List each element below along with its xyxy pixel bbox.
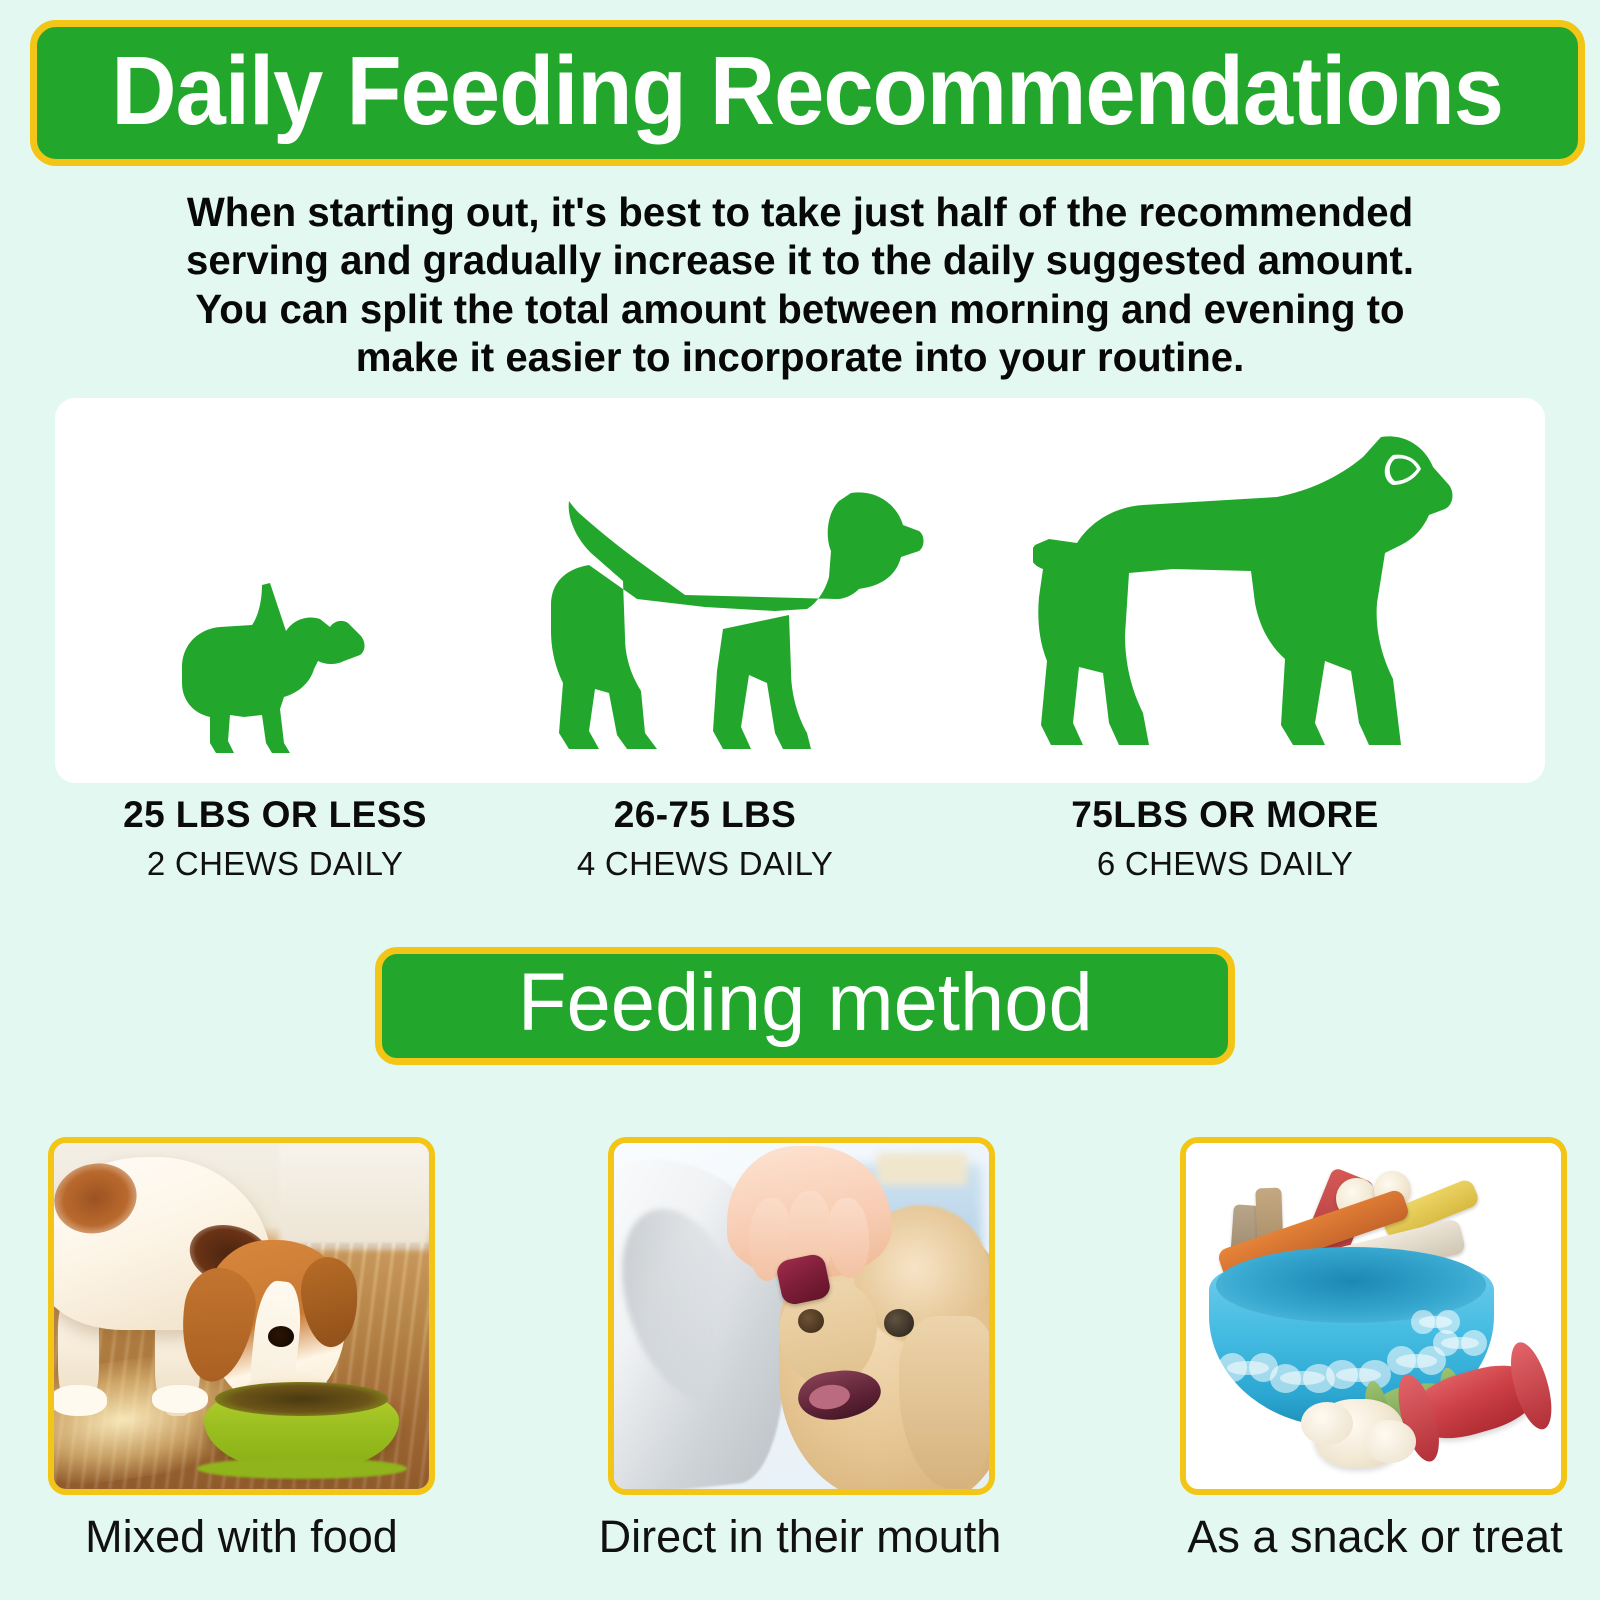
intro-paragraph: When starting out, it's best to take jus… <box>168 188 1432 382</box>
feeding-method-caption: Direct in their mouth <box>590 1512 1010 1562</box>
feeding-method-banner: Feeding method <box>375 947 1235 1065</box>
size-weight-label: 25 LBS OR LESS <box>55 795 495 836</box>
feeding-method-caption: Mixed with food <box>48 1512 435 1562</box>
size-weight-label: 75LBS OR MORE <box>955 795 1495 836</box>
small-dog-silhouette-icon <box>115 557 465 757</box>
dog-size-label-medium: 26-75 LBS 4 CHEWS DAILY <box>490 795 920 882</box>
page-title-banner: Daily Feeding Recommendations <box>30 20 1585 166</box>
hand-offering-chew-to-poodle-photo <box>608 1137 995 1495</box>
size-chews-label: 2 CHEWS DAILY <box>55 846 495 882</box>
feeding-method-caption: As a snack or treat <box>1165 1512 1585 1562</box>
dog-size-card <box>55 398 1545 783</box>
size-chews-label: 6 CHEWS DAILY <box>955 846 1495 882</box>
size-chews-label: 4 CHEWS DAILY <box>490 846 920 882</box>
page-title: Daily Feeding Recommendations <box>112 42 1504 139</box>
dog-size-label-large: 75LBS OR MORE 6 CHEWS DAILY <box>955 795 1495 882</box>
blue-bowl-of-chew-treats-photo <box>1180 1137 1567 1495</box>
large-dog-silhouette-icon <box>995 423 1495 757</box>
feeding-method-heading: Feeding method <box>518 962 1093 1044</box>
beagle-eating-from-green-bowl-photo <box>48 1137 435 1495</box>
dog-size-label-small: 25 LBS OR LESS 2 CHEWS DAILY <box>55 795 495 882</box>
medium-dog-silhouette-icon <box>515 477 955 757</box>
size-weight-label: 26-75 LBS <box>490 795 920 836</box>
